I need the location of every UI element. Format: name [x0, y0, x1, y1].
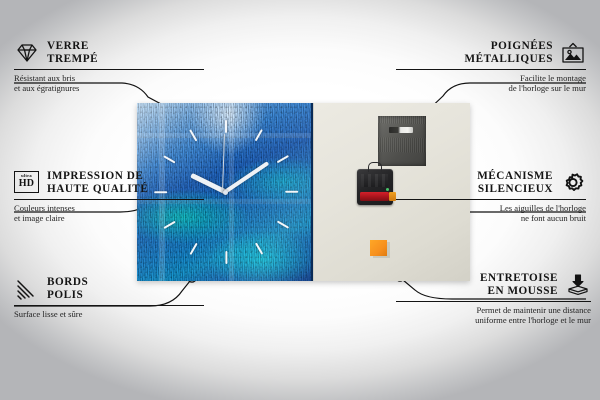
dial-tick-5: [255, 242, 264, 254]
feature-entretoise-en-mousse: ENTRETOISE EN MOUSSE Permet de maintenir…: [396, 272, 591, 326]
feature-title: ENTRETOISE EN MOUSSE: [480, 272, 558, 297]
foam-spacer-press-icon: [565, 273, 591, 297]
dial-tick-4: [277, 220, 289, 229]
dial-tick-2: [277, 155, 289, 164]
diamond-icon: [14, 41, 40, 65]
mechanism-housing-detail: [361, 174, 388, 187]
feature-subtitle: Surface lisse et sûre: [14, 309, 204, 319]
feature-verre-trempe: VERRE TREMPÉ Résistant aux bris et aux é…: [14, 40, 204, 94]
aa-battery: [360, 192, 389, 201]
feature-subtitle: Permet de maintenir une distance uniform…: [396, 305, 591, 326]
ultra-hd-icon: ultra HD: [14, 171, 40, 195]
feature-title: POIGNÉES MÉTALLIQUES: [464, 40, 553, 65]
clock-second-hand: [222, 134, 225, 192]
feature-mecanisme-silencieux: MÉCANISME SILENCIEUX Les aiguilles de l'…: [396, 170, 586, 224]
feature-divider: [396, 199, 586, 200]
feature-title: BORDS POLIS: [47, 276, 88, 301]
dial-tick-3: [285, 191, 298, 193]
feature-bords-polis: BORDS POLIS Surface lisse et sûre: [14, 276, 204, 319]
clock-center-hub: [223, 190, 228, 195]
feature-divider: [14, 69, 204, 70]
feature-subtitle: Couleurs intenses et image claire: [14, 203, 204, 224]
feature-title: VERRE TREMPÉ: [47, 40, 98, 65]
picture-frame-hanger-icon: [560, 41, 586, 65]
feature-divider: [14, 199, 204, 200]
battery-positive-terminal: [389, 192, 396, 201]
ultra-hd-icon-main-text: HD: [19, 179, 34, 189]
feature-subtitle: Facilite le montage de l'horloge sur le …: [396, 73, 586, 94]
dial-tick-11: [189, 129, 198, 141]
mechanism-indicator-dot: [386, 188, 389, 191]
mechanism-hanging-loop: [368, 162, 382, 172]
hanger-keyhole-slot: [389, 127, 413, 133]
quartz-movement-mechanism: [357, 169, 393, 205]
gear-icon: [560, 171, 586, 195]
metal-hanger-plate: [378, 116, 426, 166]
feature-poignees-metalliques: POIGNÉES MÉTALLIQUES Facilite le montage…: [396, 40, 586, 94]
polished-edges-icon: [14, 277, 40, 301]
feature-title: MÉCANISME SILENCIEUX: [477, 170, 553, 195]
feature-impression-haute-qualite: ultra HD IMPRESSION DE HAUTE QUALITÉ Cou…: [14, 170, 204, 224]
infographic-canvas: VERRE TREMPÉ Résistant aux bris et aux é…: [0, 0, 600, 400]
dial-tick-10: [163, 155, 175, 164]
foam-spacer-pad: [370, 240, 387, 256]
dial-tick-1: [255, 129, 264, 141]
clock-minute-hand: [224, 161, 269, 194]
dial-tick-6: [225, 251, 227, 264]
feature-subtitle: Les aiguilles de l'horloge ne font aucun…: [396, 203, 586, 224]
feature-divider: [396, 301, 591, 302]
dial-tick-12: [225, 120, 227, 133]
feature-subtitle: Résistant aux bris et aux égratignures: [14, 73, 204, 94]
feature-divider: [396, 69, 586, 70]
feature-title: IMPRESSION DE HAUTE QUALITÉ: [47, 170, 148, 195]
dial-tick-7: [189, 242, 198, 254]
feature-divider: [14, 305, 204, 306]
